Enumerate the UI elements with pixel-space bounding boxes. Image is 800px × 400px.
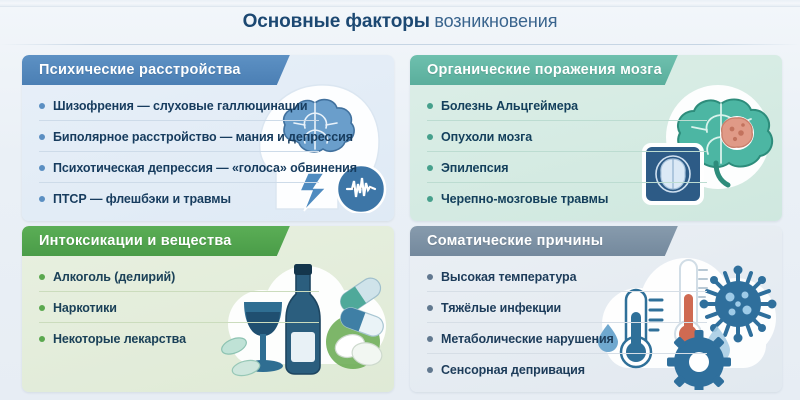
list-item: Некоторые лекарства	[22, 323, 394, 354]
card-header-organic-brain-lesions: Органические поражения мозга	[410, 55, 678, 85]
bullet-icon	[39, 165, 45, 171]
list-item: Тяжёлые инфекции	[410, 292, 782, 323]
title-divider	[0, 44, 800, 45]
card-somatic-causes: Соматические причины	[410, 226, 782, 392]
list-item: Опухоли мозга	[410, 121, 782, 152]
bullet-icon	[427, 165, 433, 171]
card-mental-disorders: Психические расстройства	[22, 55, 394, 221]
bullet-icon	[39, 305, 45, 311]
card-title: Интоксикации и вещества	[22, 233, 232, 249]
card-list-mental-disorders: Шизофрения — слуховые галлюцинации Бипол…	[22, 85, 394, 214]
list-item-label: Биполярное расстройство — мания и депрес…	[53, 130, 353, 144]
card-header-intoxications-substances: Интоксикации и вещества	[22, 226, 290, 256]
list-item-label: ПТСР — флешбэки и травмы	[53, 192, 231, 206]
bullet-icon	[427, 367, 433, 373]
list-item: Биполярное расстройство — мания и депрес…	[22, 121, 394, 152]
list-item-label: Тяжёлые инфекции	[441, 301, 561, 315]
bullet-icon	[427, 103, 433, 109]
list-item-label: Метаболические нарушения	[441, 332, 614, 346]
cropped-title-remnant: возникновения	[417, 0, 503, 3]
list-item-label: Психотическая депрессия — «голоса» обвин…	[53, 161, 357, 175]
list-item-label: Высокая температура	[441, 270, 576, 284]
card-header-mental-disorders: Психические расстройства	[22, 55, 290, 85]
list-item: Психотическая депрессия — «голоса» обвин…	[22, 152, 394, 183]
list-item: Черепно-мозговые травмы	[410, 183, 782, 214]
list-item: ПТСР — флешбэки и травмы	[22, 183, 394, 214]
factor-cards-grid: Психические расстройства	[22, 55, 782, 392]
page-title: Основные факторы возникновения	[0, 11, 800, 33]
list-item: Высокая температура	[410, 261, 782, 292]
bullet-icon	[39, 196, 45, 202]
bullet-icon	[427, 274, 433, 280]
list-item: Наркотики	[22, 292, 394, 323]
list-item: Алкоголь (делирий)	[22, 261, 394, 292]
list-item: Сенсорная депривация	[410, 354, 782, 385]
list-item-label: Опухоли мозга	[441, 130, 532, 144]
bullet-icon	[39, 336, 45, 342]
bullet-icon	[427, 305, 433, 311]
bullet-icon	[427, 196, 433, 202]
bullet-icon	[39, 134, 45, 140]
card-title: Соматические причины	[410, 233, 603, 249]
list-item-label: Сенсорная депривация	[441, 363, 585, 377]
list-item: Болезнь Альцгеймера	[410, 90, 782, 121]
list-item-label: Черепно-мозговые травмы	[441, 192, 608, 206]
bullet-icon	[427, 336, 433, 342]
list-item-label: Алкоголь (делирий)	[53, 270, 175, 284]
list-item: Эпилепсия	[410, 152, 782, 183]
page-title-light: возникновения	[434, 11, 557, 31]
card-intoxications-substances: Интоксикации и вещества	[22, 226, 394, 392]
page-title-strong: Основные факторы	[243, 11, 430, 32]
list-item-label: Эпилепсия	[441, 161, 508, 175]
card-list-intoxications-substances: Алкоголь (делирий) Наркотики Некоторые л…	[22, 256, 394, 354]
card-title: Органические поражения мозга	[410, 62, 662, 78]
card-list-somatic-causes: Высокая температура Тяжёлые инфекции Мет…	[410, 256, 782, 385]
card-title: Психические расстройства	[22, 62, 241, 78]
card-organic-brain-lesions: Органические поражения мозга	[410, 55, 782, 221]
top-cropped-strip: возникновения	[0, 0, 800, 7]
bullet-icon	[39, 274, 45, 280]
list-item-label: Болезнь Альцгеймера	[441, 99, 578, 113]
bullet-icon	[427, 134, 433, 140]
list-item: Метаболические нарушения	[410, 323, 782, 354]
list-item-label: Шизофрения — слуховые галлюцинации	[53, 99, 307, 113]
list-item-label: Наркотики	[53, 301, 117, 315]
list-item: Шизофрения — слуховые галлюцинации	[22, 90, 394, 121]
bullet-icon	[39, 103, 45, 109]
list-item-label: Некоторые лекарства	[53, 332, 186, 346]
card-header-somatic-causes: Соматические причины	[410, 226, 678, 256]
card-list-organic-brain-lesions: Болезнь Альцгеймера Опухоли мозга Эпилеп…	[410, 85, 782, 214]
